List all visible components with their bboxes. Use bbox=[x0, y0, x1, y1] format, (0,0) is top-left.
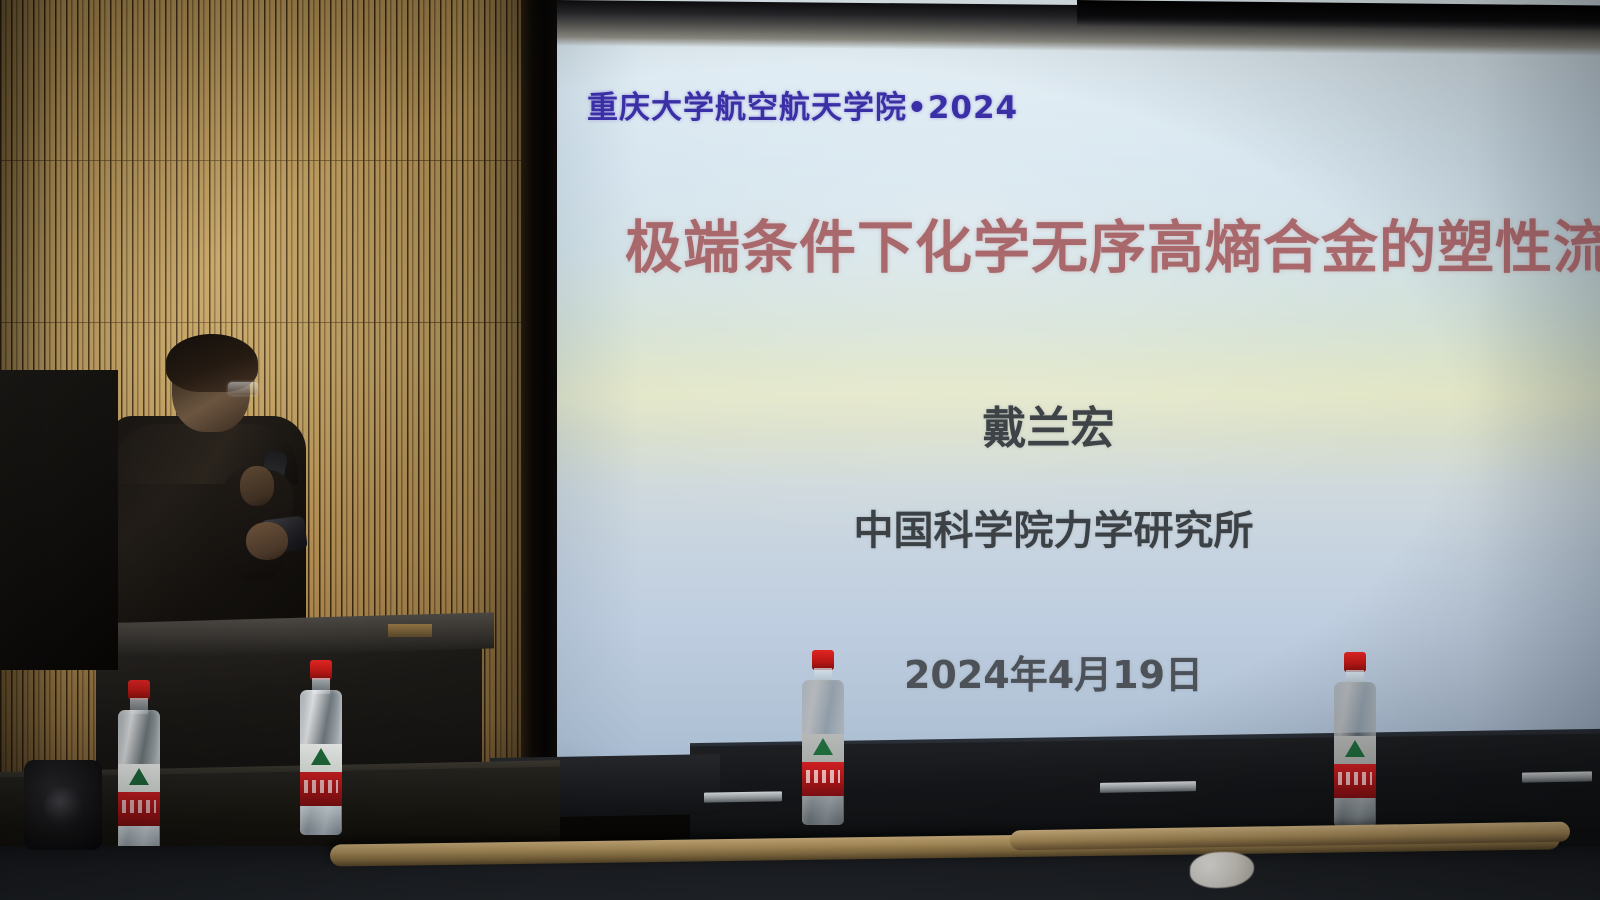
table-paper-right bbox=[1522, 771, 1592, 782]
bottle-cap bbox=[1344, 652, 1366, 672]
camera-lens-icon bbox=[44, 786, 86, 828]
bottle-base bbox=[1335, 798, 1375, 827]
mountain-logo-icon bbox=[311, 748, 331, 765]
bottle-cap bbox=[812, 650, 834, 670]
table-paper-left bbox=[1100, 781, 1196, 793]
projection-screen: 重庆大学航空航天学院•2024 极端条件下化学无序高熵合金的塑性流动与断 戴兰宏… bbox=[557, 0, 1600, 760]
table-paper-center bbox=[704, 791, 782, 802]
water-bottle-far-right bbox=[1332, 652, 1378, 827]
bottle-cap bbox=[310, 660, 332, 680]
mountain-logo-icon bbox=[129, 768, 149, 785]
dark-side-panel bbox=[0, 370, 118, 670]
presenter-hand-upper bbox=[240, 466, 274, 506]
lecture-photo-scene: 重庆大学航空航天学院•2024 极端条件下化学无序高熵合金的塑性流动与断 戴兰宏… bbox=[0, 0, 1600, 900]
bottle-brand-text bbox=[122, 800, 156, 813]
slide-author-text: 戴兰宏 bbox=[557, 392, 1600, 456]
slide-date-text: 2024年4月19日 bbox=[557, 644, 1600, 699]
slide-affiliation-text: 中国科学院力学研究所 bbox=[557, 498, 1600, 556]
bottle-brand-text bbox=[304, 780, 338, 793]
water-bottle-center-right bbox=[800, 650, 846, 825]
mountain-logo-icon bbox=[813, 738, 833, 755]
screen-frame-top bbox=[1077, 0, 1600, 31]
slide-title-text: 极端条件下化学无序高熵合金的塑性流动与断 bbox=[625, 202, 1600, 284]
bottle-base bbox=[803, 796, 843, 825]
bottle-cap bbox=[128, 680, 150, 700]
presenter-hand-lower bbox=[246, 522, 288, 560]
water-bottle-back-left bbox=[298, 660, 344, 835]
bottle-base bbox=[301, 806, 341, 835]
slide-header-text: 重庆大学航空航天学院•2024 bbox=[587, 82, 1018, 127]
bottle-brand-text bbox=[1338, 772, 1372, 785]
lectern-nameplate bbox=[388, 624, 432, 637]
water-bottle-front-left bbox=[116, 680, 162, 855]
bottle-brand-text bbox=[806, 770, 840, 783]
glasses-icon bbox=[228, 382, 258, 395]
mountain-logo-icon bbox=[1345, 740, 1365, 757]
